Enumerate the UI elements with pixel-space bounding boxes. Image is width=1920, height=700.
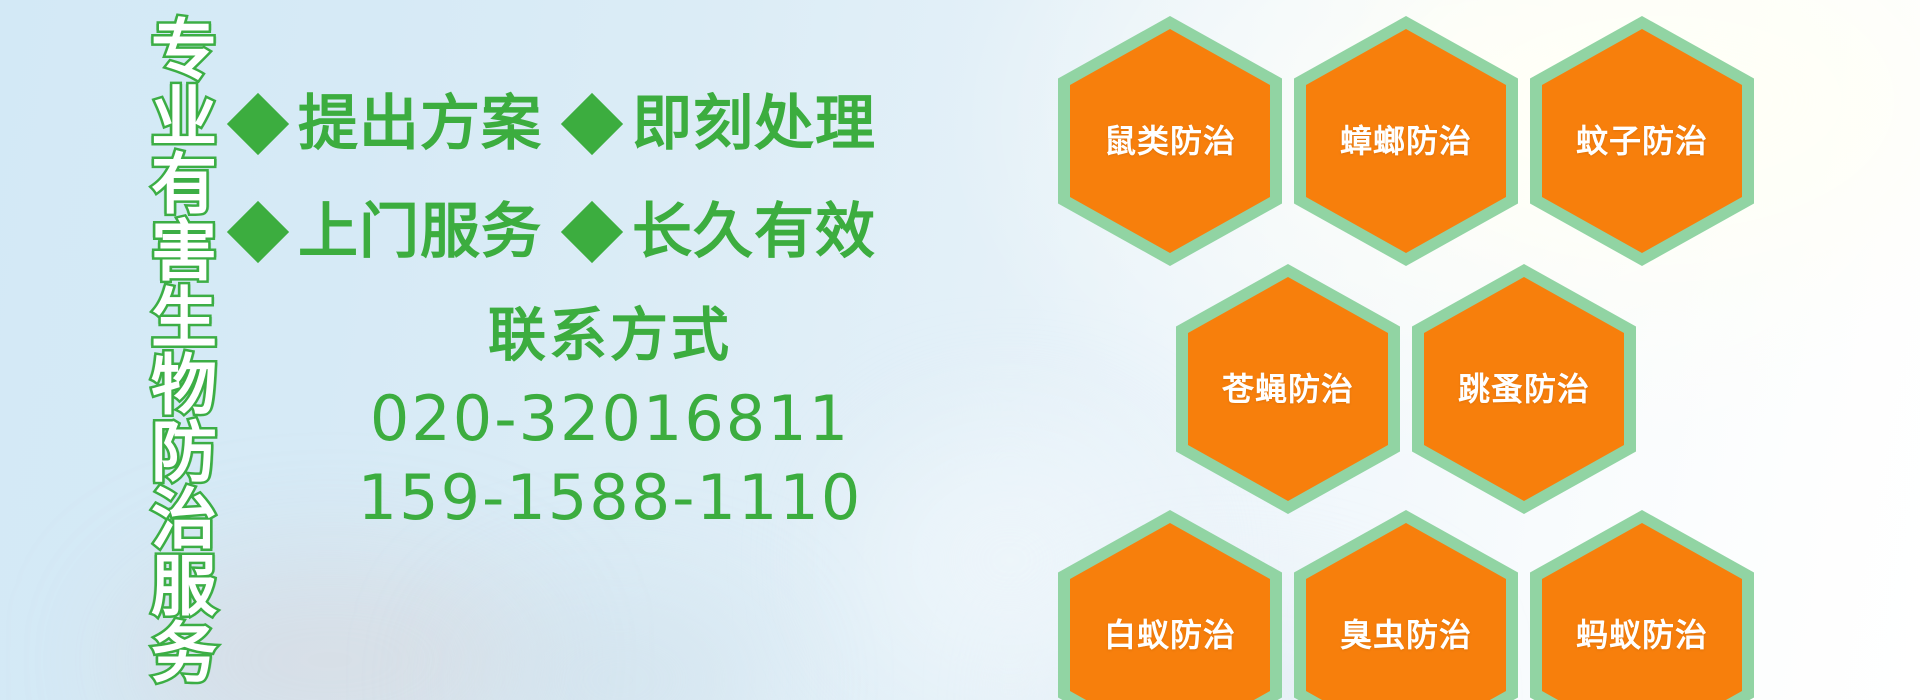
service-hex-ant-control[interactable]: 蚂蚁防治 xyxy=(1530,510,1754,700)
promo-banner: 专业有害生物防治服务 提出方案 即刻处理 上门服务 长久有效 联系方式 xyxy=(0,0,1920,700)
hex-label: 白蚁防治 xyxy=(1104,619,1236,651)
background-blur-blob xyxy=(470,600,770,700)
feature-label: 即刻处理 xyxy=(632,94,876,154)
service-hex-flea-control[interactable]: 跳蚤防治 xyxy=(1412,264,1636,514)
service-hex-rodent-control[interactable]: 鼠类防治 xyxy=(1058,16,1282,266)
service-honeycomb: 鼠类防治 蟑螂防治 蚊子防治 苍蝇防治 跳蚤防治 白蚁防治 xyxy=(1040,0,1840,700)
hex-inner: 蚊子防治 xyxy=(1542,29,1742,253)
service-hex-termite-control[interactable]: 白蚁防治 xyxy=(1058,510,1282,700)
hex-label: 跳蚤防治 xyxy=(1458,373,1590,405)
feature-row: 上门服务 长久有效 xyxy=(236,178,876,286)
hex-inner: 苍蝇防治 xyxy=(1188,277,1388,501)
feature-label: 提出方案 xyxy=(298,94,542,154)
hex-label: 鼠类防治 xyxy=(1104,125,1236,157)
service-hex-mosquito-control[interactable]: 蚊子防治 xyxy=(1530,16,1754,266)
diamond-icon xyxy=(227,93,289,155)
hex-inner: 臭虫防治 xyxy=(1306,523,1506,700)
hex-label: 苍蝇防治 xyxy=(1222,373,1354,405)
hex-inner: 鼠类防治 xyxy=(1070,29,1270,253)
feature-item-immediate-handling: 即刻处理 xyxy=(570,94,876,154)
hex-inner: 蟑螂防治 xyxy=(1306,29,1506,253)
contact-phone-landline[interactable]: 020-32016811 xyxy=(330,379,890,458)
hex-inner: 蚂蚁防治 xyxy=(1542,523,1742,700)
hex-inner: 白蚁防治 xyxy=(1070,523,1270,700)
diamond-icon xyxy=(227,201,289,263)
service-hex-cockroach-control[interactable]: 蟑螂防治 xyxy=(1294,16,1518,266)
feature-label: 上门服务 xyxy=(298,202,542,262)
service-hex-bedbug-control[interactable]: 臭虫防治 xyxy=(1294,510,1518,700)
feature-row: 提出方案 即刻处理 xyxy=(236,70,876,178)
service-hex-fly-control[interactable]: 苍蝇防治 xyxy=(1176,264,1400,514)
hex-inner: 跳蚤防治 xyxy=(1424,277,1624,501)
feature-label: 长久有效 xyxy=(632,202,876,262)
contact-block: 联系方式 020-32016811 159-1588-1110 xyxy=(330,300,890,537)
hex-label: 蚊子防治 xyxy=(1576,125,1708,157)
hex-label: 臭虫防治 xyxy=(1340,619,1472,651)
feature-item-long-lasting: 长久有效 xyxy=(570,202,876,262)
feature-list: 提出方案 即刻处理 上门服务 长久有效 xyxy=(236,70,876,286)
hex-label: 蚂蚁防治 xyxy=(1576,619,1708,651)
feature-item-onsite-service: 上门服务 xyxy=(236,202,542,262)
feature-item-propose-plan: 提出方案 xyxy=(236,94,542,154)
contact-heading: 联系方式 xyxy=(330,300,890,373)
diamond-icon xyxy=(561,93,623,155)
diamond-icon xyxy=(561,201,623,263)
vertical-headline: 专业有害生物防治服务 xyxy=(108,14,212,686)
hex-label: 蟑螂防治 xyxy=(1340,125,1472,157)
contact-phone-mobile[interactable]: 159-1588-1110 xyxy=(330,458,890,537)
